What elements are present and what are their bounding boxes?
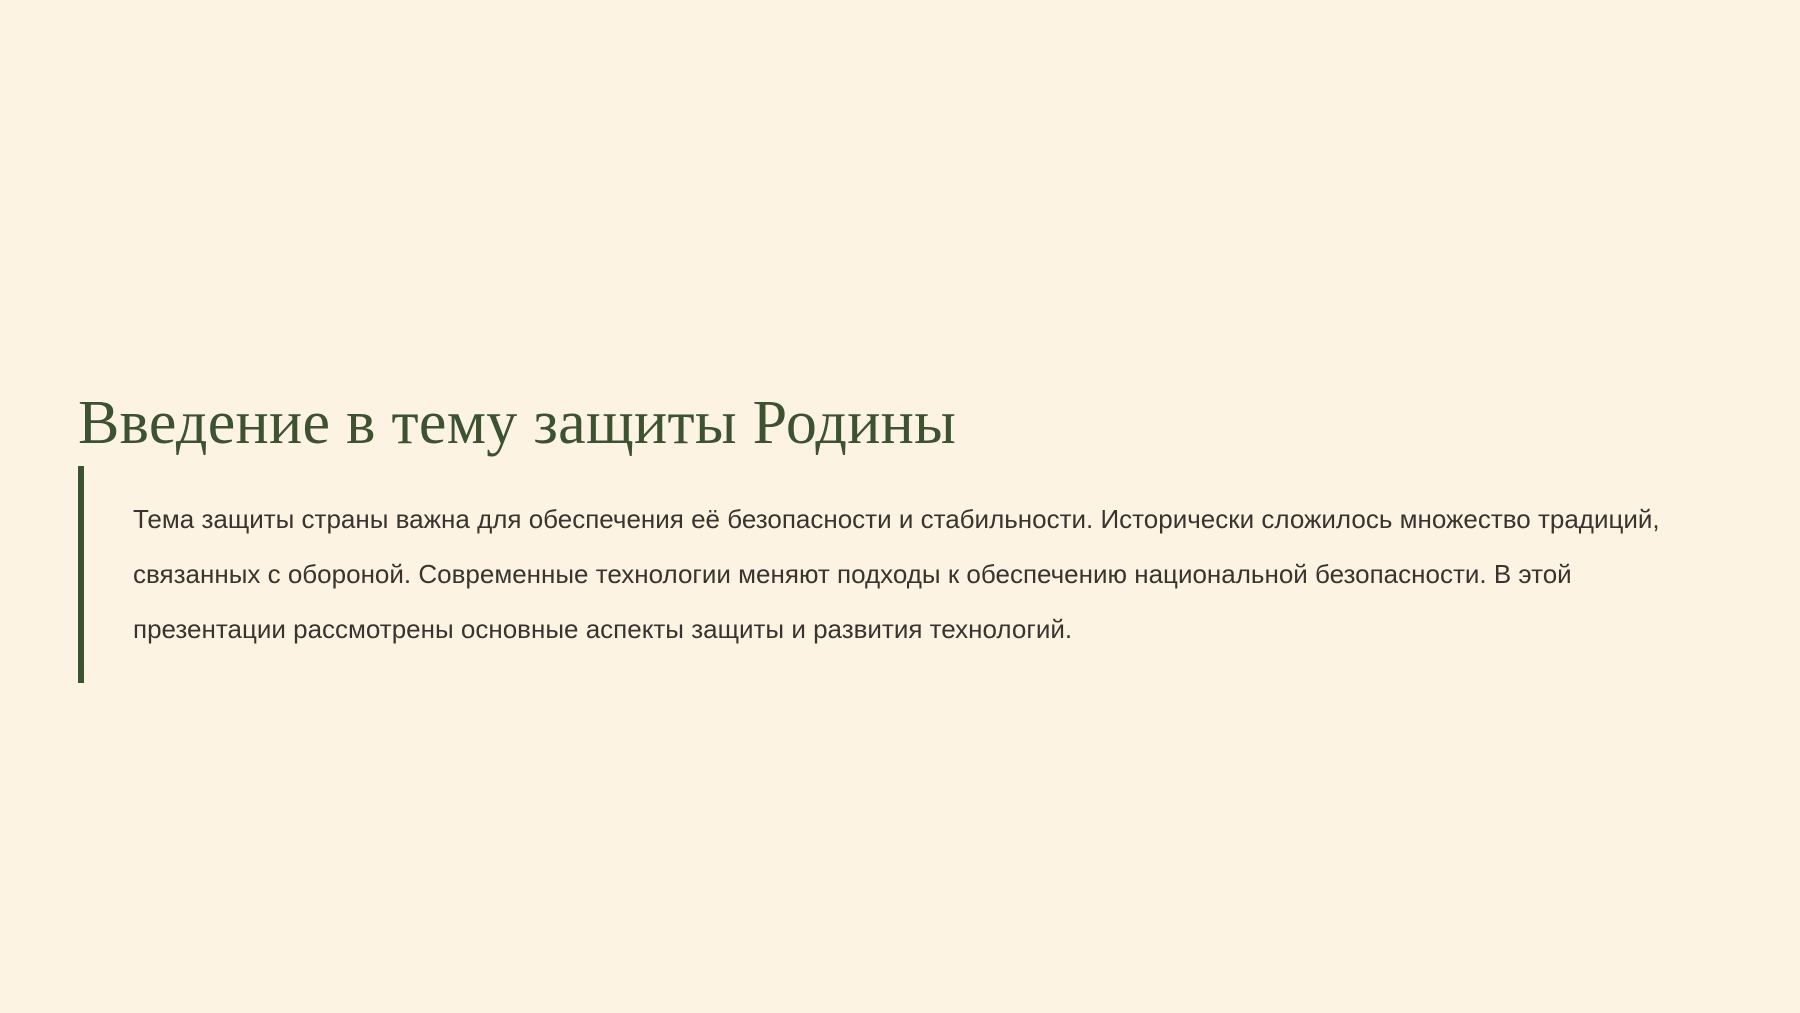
accent-bar	[78, 466, 84, 683]
presentation-slide: Введение в тему защиты Родины Тема защит…	[0, 0, 1800, 1013]
body-block: Тема защиты страны важна для обеспечения…	[78, 466, 1698, 683]
slide-title: Введение в тему защиты Родины	[78, 384, 956, 462]
slide-body-text: Тема защиты страны важна для обеспечения…	[133, 492, 1668, 657]
